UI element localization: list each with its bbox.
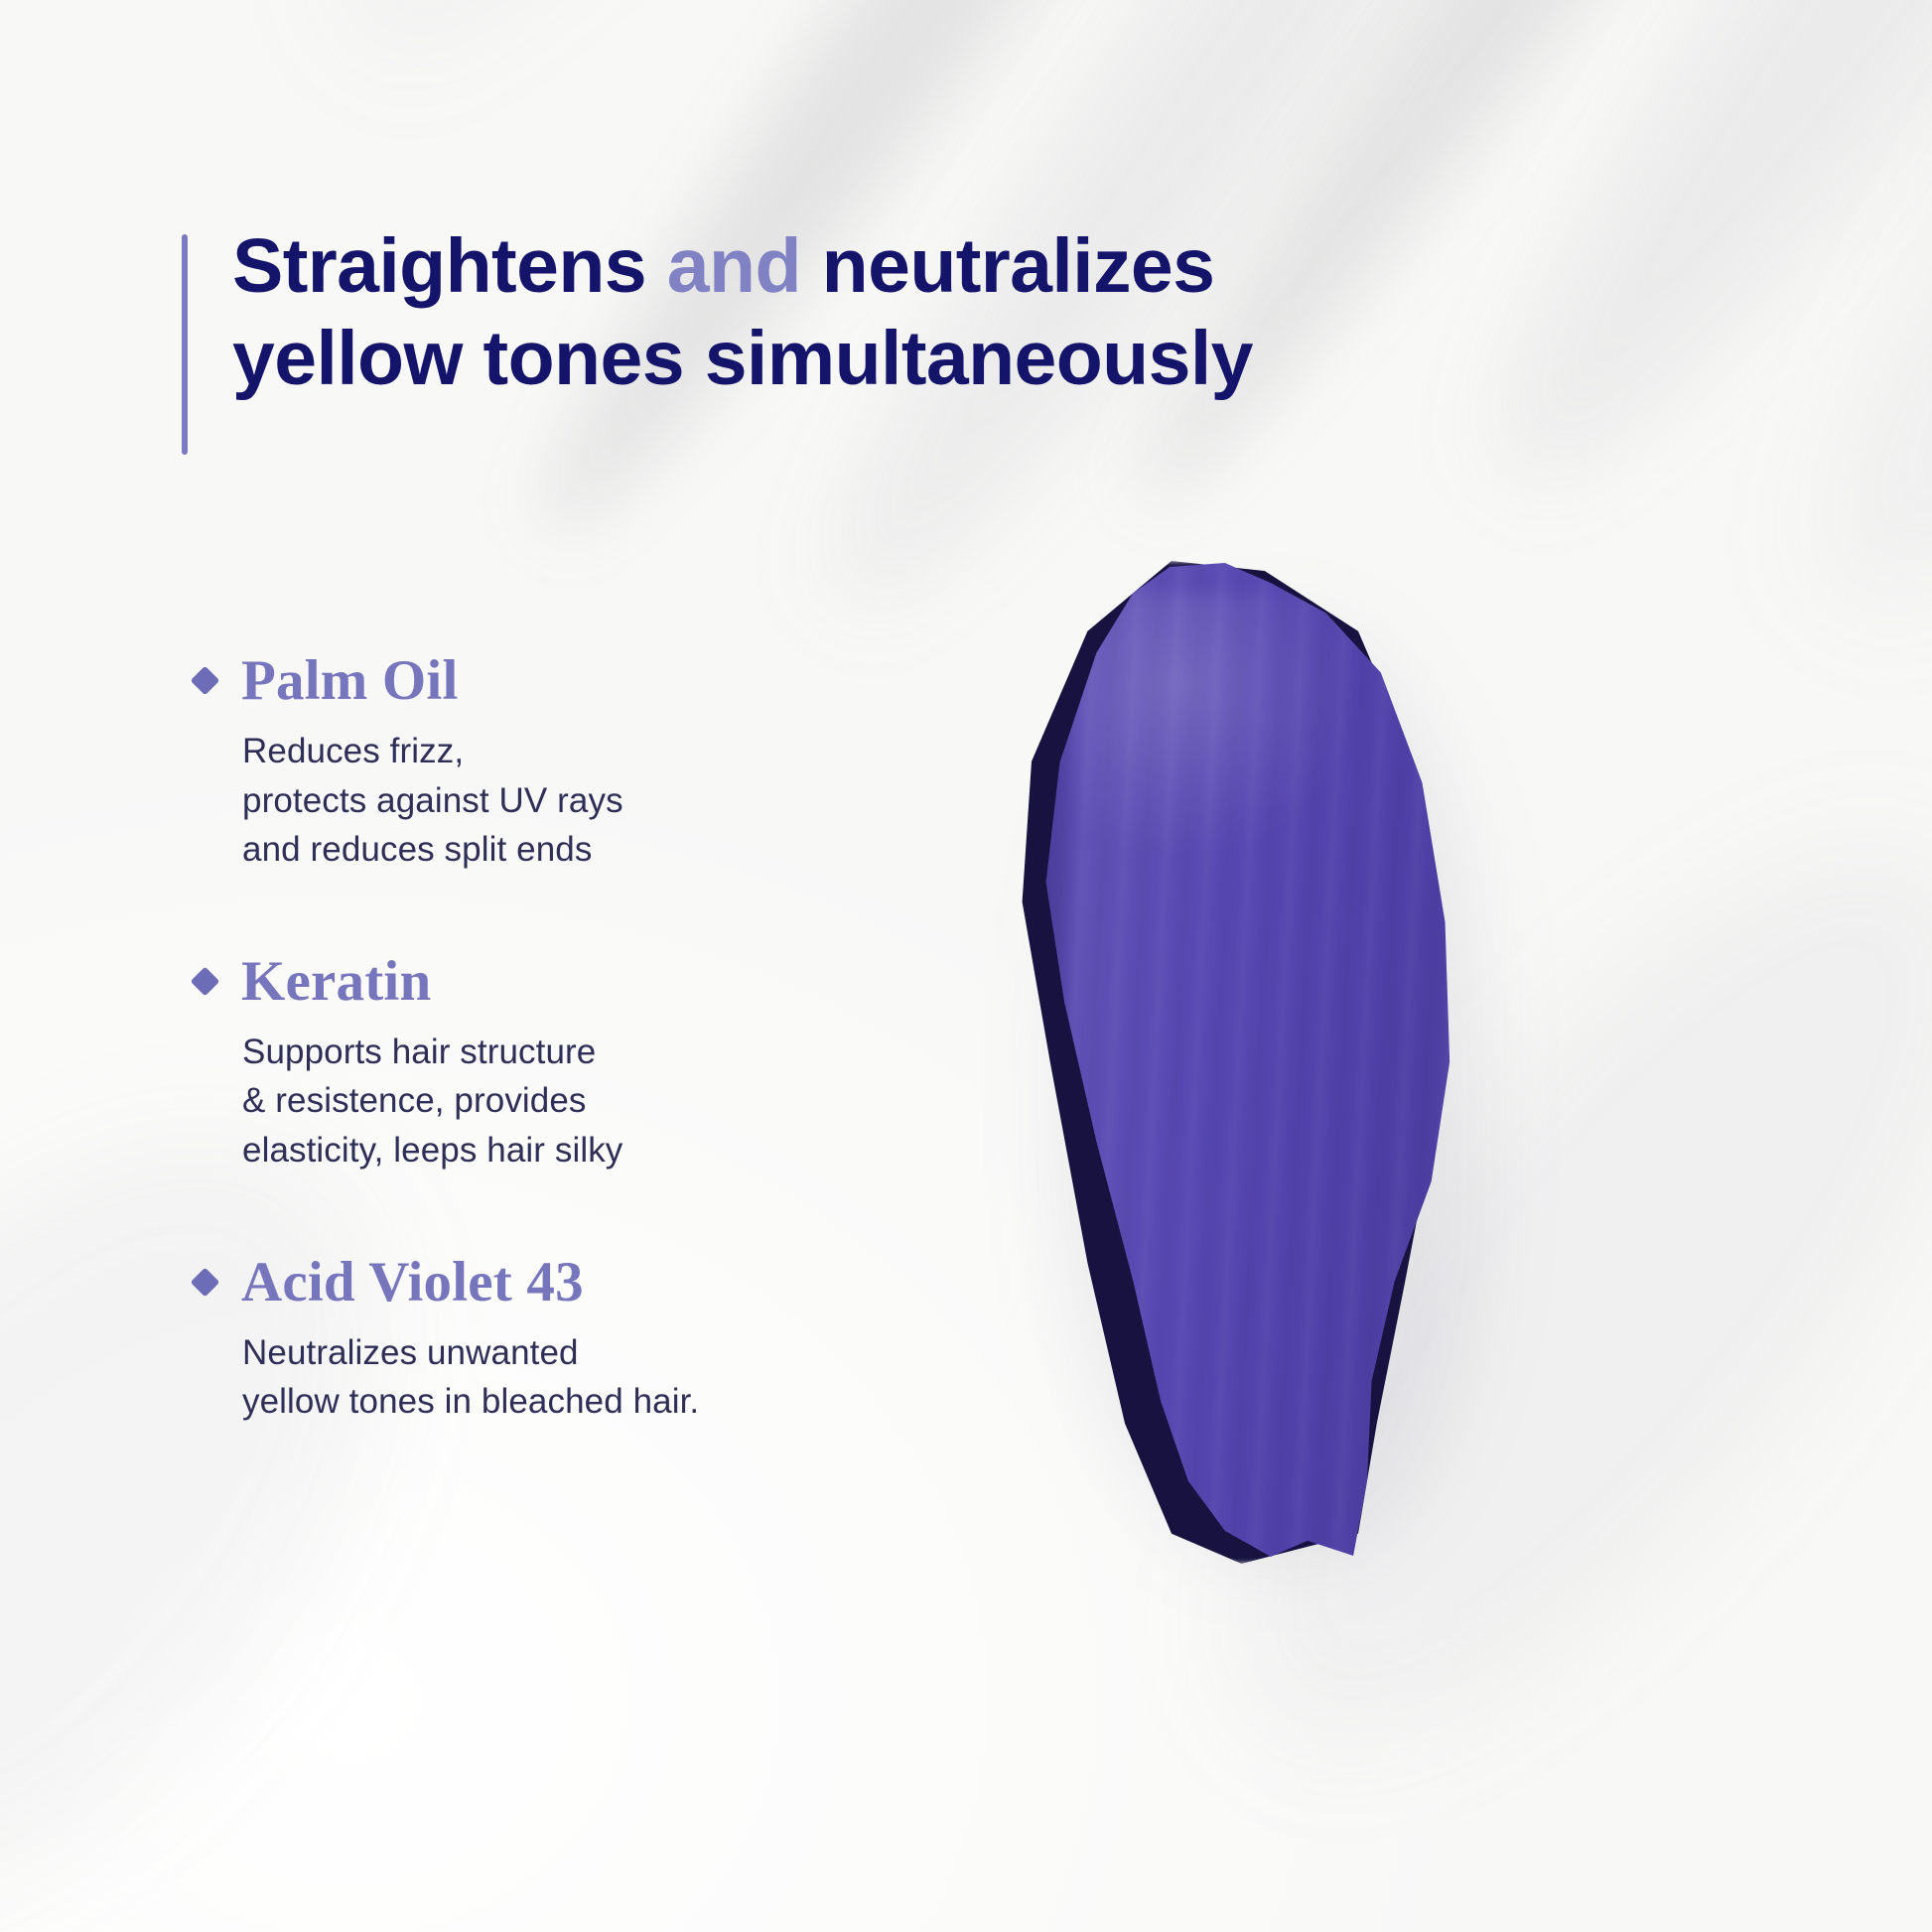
headline-line1-part1: Straightens	[232, 223, 667, 309]
swatch-gloss-highlight	[1069, 593, 1353, 852]
headline-accent-word: and	[667, 223, 801, 309]
page-title: Straightens and neutralizes yellow tones…	[232, 220, 1483, 405]
ingredient-description: Supports hair structure & resistence, pr…	[242, 1028, 890, 1175]
diamond-bullet-icon	[191, 1268, 220, 1298]
ingredient-description: Neutralizes unwanted yellow tones in ble…	[242, 1328, 890, 1427]
list-item: Keratin Supports hair structure & resist…	[195, 952, 890, 1175]
headline-line2: yellow tones simultaneously	[232, 316, 1253, 401]
ingredient-heading: Acid Violet 43	[195, 1253, 890, 1312]
product-swatch	[993, 561, 1459, 1564]
promo-graphic-canvas: Straightens and neutralizes yellow tones…	[0, 0, 1932, 1932]
headline-line1-part2: neutralizes	[801, 223, 1214, 309]
headline-accent-bar	[182, 234, 188, 455]
list-item: Palm Oil Reduces frizz, protects against…	[195, 651, 890, 875]
ingredient-description: Reduces frizz, protects against UV rays …	[242, 727, 890, 875]
diamond-bullet-icon	[191, 666, 220, 696]
ingredient-title: Keratin	[241, 952, 431, 1012]
ingredient-title: Acid Violet 43	[241, 1253, 584, 1312]
diamond-bullet-icon	[191, 967, 220, 997]
list-item: Acid Violet 43 Neutralizes unwanted yell…	[195, 1253, 890, 1427]
ingredient-heading: Palm Oil	[195, 651, 890, 711]
ingredient-title: Palm Oil	[241, 651, 459, 711]
ingredient-list: Palm Oil Reduces frizz, protects against…	[195, 651, 890, 1427]
ingredient-heading: Keratin	[195, 952, 890, 1012]
